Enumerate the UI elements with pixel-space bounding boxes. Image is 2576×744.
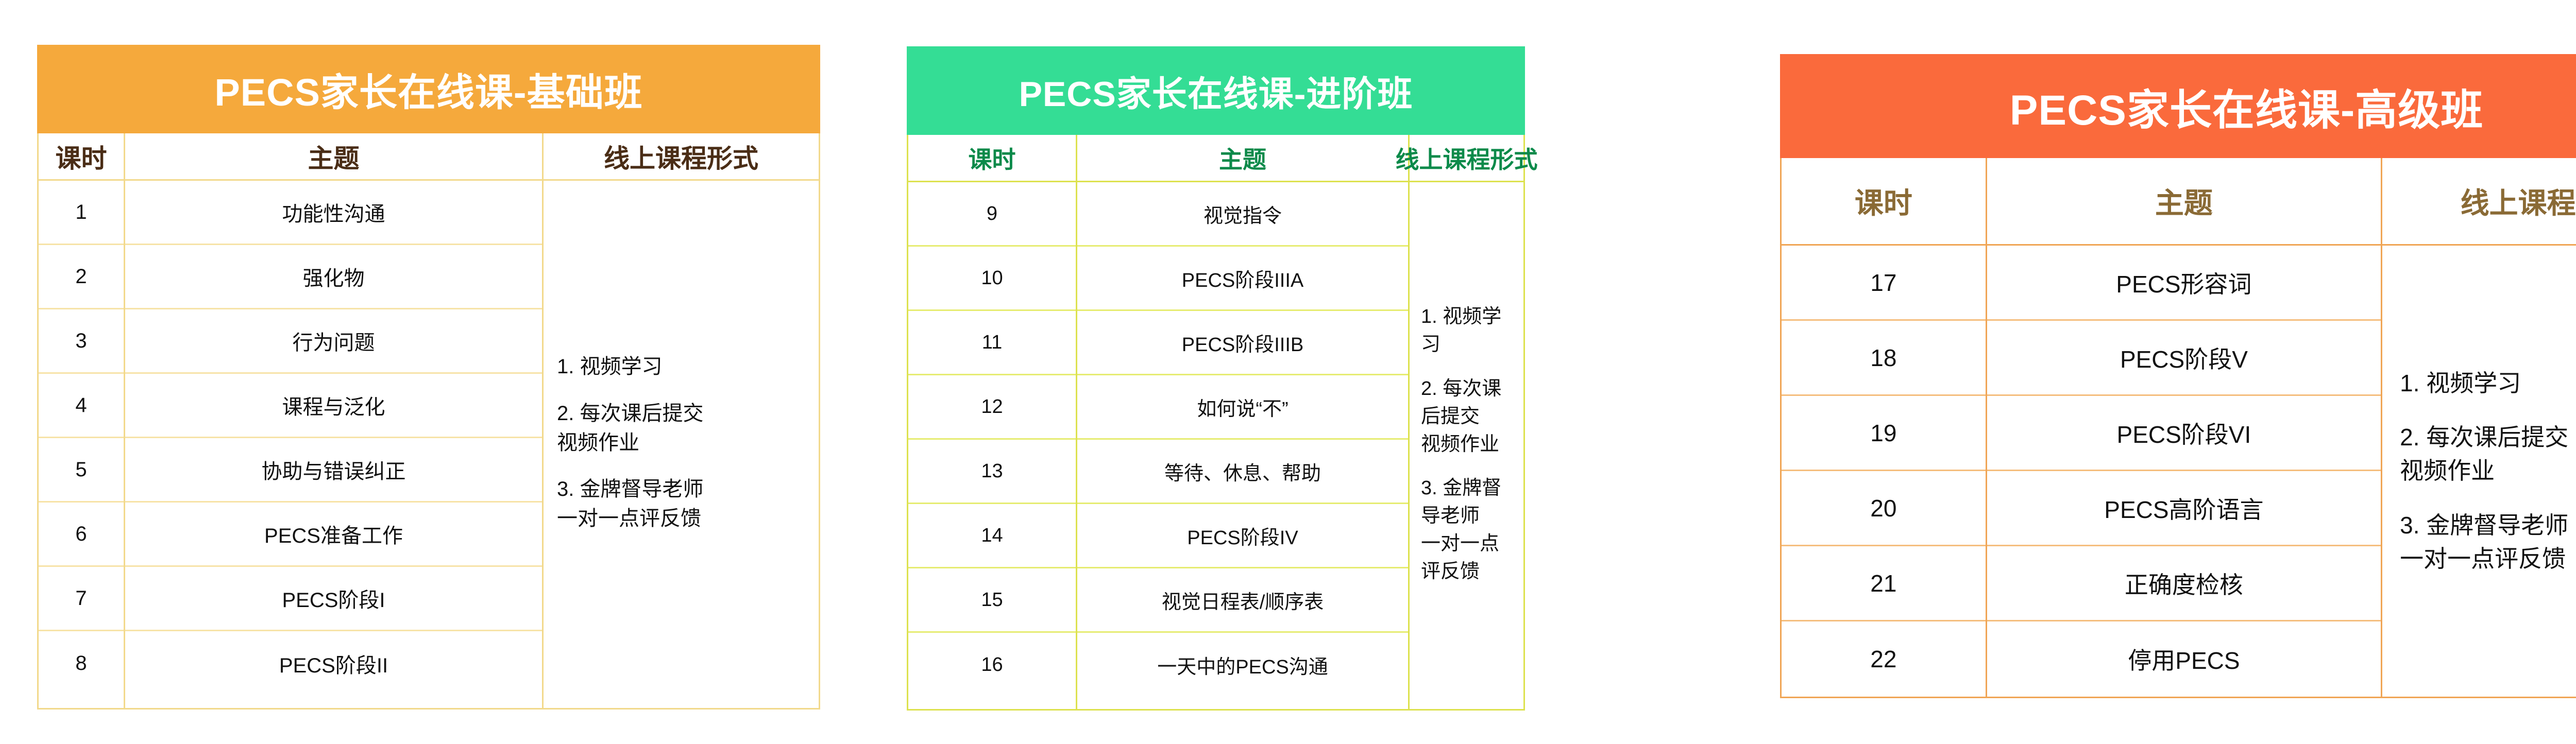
table-cell-topic: PECS阶段IIIB [1077, 311, 1408, 375]
table-cell-period: 6 [39, 503, 124, 567]
column-header-period: 课时 [1782, 158, 1986, 246]
table-grid-basic: 课时 1 2 3 4 5 6 7 8 主题 功能性沟通 强化物 行为问题 课程与… [37, 133, 820, 710]
table-cell-period: 2 [39, 245, 124, 309]
course-table-advanced: PECS家长在线课-高级班 课时 17 18 19 20 21 22 主题 PE… [1780, 54, 2576, 698]
column-header-format: 线上课程形式 [1410, 135, 1523, 182]
table-cell-format: 1. 视频学习 2. 每次课后提交 视频作业 3. 金牌督导老师 一对一点评反馈 [1410, 182, 1523, 709]
table-cell-topic: 视觉指令 [1077, 182, 1408, 247]
table-cell-topic: 协助与错误纠正 [125, 438, 542, 503]
table-cell-period: 17 [1782, 246, 1986, 321]
table-cell-topic: 一天中的PECS沟通 [1077, 633, 1408, 697]
table-banner-basic: PECS家长在线课-基础班 [37, 45, 820, 133]
table-cell-topic: 停用PECS [1987, 621, 2381, 697]
column-topic-advanced: 主题 PECS形容词 PECS阶段V PECS阶段VI PECS高阶语言 正确度… [1987, 158, 2382, 697]
table-cell-topic: PECS高阶语言 [1987, 471, 2381, 546]
format-line: 2. 每次课后提交 视频作业 [2400, 421, 2576, 488]
table-cell-period: 9 [908, 182, 1076, 247]
table-cell-period: 18 [1782, 321, 1986, 396]
table-cell-period: 5 [39, 438, 124, 503]
table-cell-period: 22 [1782, 621, 1986, 697]
format-line: 3. 金牌督导老师 一对一点评反馈 [557, 475, 803, 533]
format-line: 1. 视频学习 [2400, 367, 2576, 400]
table-cell-period: 20 [1782, 471, 1986, 546]
table-cell-topic: PECS阶段V [1987, 321, 2381, 396]
table-cell-period: 13 [908, 440, 1076, 504]
column-topic-basic: 主题 功能性沟通 强化物 行为问题 课程与泛化 协助与错误纠正 PECS准备工作… [125, 133, 544, 708]
table-cell-topic: PECS阶段II [125, 631, 542, 696]
table-cell-period: 15 [908, 568, 1076, 633]
column-format-intermediate: 线上课程形式 1. 视频学习 2. 每次课后提交 视频作业 3. 金牌督导老师 … [1410, 135, 1523, 709]
column-topic-intermediate: 主题 视觉指令 PECS阶段IIIA PECS阶段IIIB 如何说“不” 等待、… [1077, 135, 1410, 709]
table-cell-topic: 正确度检核 [1987, 546, 2381, 621]
table-cell-period: 11 [908, 311, 1076, 375]
table-cell-format: 1. 视频学习 2. 每次课后提交 视频作业 3. 金牌督导老师 一对一点评反馈 [2382, 246, 2576, 697]
table-cell-topic: 视觉日程表/顺序表 [1077, 568, 1408, 633]
table-banner-intermediate: PECS家长在线课-进阶班 [907, 46, 1525, 135]
column-header-topic: 主题 [1987, 158, 2381, 246]
course-table-intermediate: PECS家长在线课-进阶班 课时 9 10 11 12 13 14 15 16 … [907, 46, 1525, 711]
table-cell-period: 21 [1782, 546, 1986, 621]
table-cell-topic: PECS阶段IV [1077, 504, 1408, 568]
table-cell-period: 8 [39, 631, 124, 696]
table-cell-topic: 课程与泛化 [125, 374, 542, 438]
column-format-advanced: 线上课程形式 1. 视频学习 2. 每次课后提交 视频作业 3. 金牌督导老师 … [2382, 158, 2576, 697]
column-period-basic: 课时 1 2 3 4 5 6 7 8 [39, 133, 125, 708]
table-cell-topic: 行为问题 [125, 309, 542, 374]
format-line: 1. 视频学习 [557, 352, 803, 382]
table-cell-period: 19 [1782, 396, 1986, 471]
table-cell-period: 14 [908, 504, 1076, 568]
table-grid-intermediate: 课时 9 10 11 12 13 14 15 16 主题 视觉指令 PECS阶段… [907, 135, 1525, 711]
table-cell-period: 3 [39, 309, 124, 374]
format-line: 2. 每次课后提交 视频作业 [557, 399, 803, 458]
column-period-intermediate: 课时 9 10 11 12 13 14 15 16 [908, 135, 1077, 709]
column-header-topic: 主题 [1077, 135, 1408, 182]
table-cell-topic: 功能性沟通 [125, 181, 542, 245]
format-line: 3. 金牌督导老师 一对一点评反馈 [2400, 509, 2576, 576]
table-cell-period: 1 [39, 181, 124, 245]
table-cell-topic: PECS形容词 [1987, 246, 2381, 321]
table-cell-topic: PECS准备工作 [125, 503, 542, 567]
table-grid-advanced: 课时 17 18 19 20 21 22 主题 PECS形容词 PECS阶段V … [1780, 158, 2576, 698]
column-period-advanced: 课时 17 18 19 20 21 22 [1782, 158, 1987, 697]
table-cell-period: 10 [908, 247, 1076, 311]
column-header-format: 线上课程形式 [544, 133, 819, 181]
table-cell-period: 7 [39, 567, 124, 631]
table-cell-period: 12 [908, 375, 1076, 440]
table-cell-format: 1. 视频学习 2. 每次课后提交 视频作业 3. 金牌督导老师 一对一点评反馈 [544, 181, 819, 708]
format-line: 1. 视频学习 [1421, 303, 1518, 359]
column-header-format: 线上课程形式 [2382, 158, 2576, 246]
format-line: 2. 每次课后提交 视频作业 [1421, 375, 1518, 459]
column-format-basic: 线上课程形式 1. 视频学习 2. 每次课后提交 视频作业 3. 金牌督导老师 … [544, 133, 819, 708]
format-line: 3. 金牌督导老师 一对一点评反馈 [1421, 475, 1518, 586]
table-cell-topic: 等待、休息、帮助 [1077, 440, 1408, 504]
table-cell-topic: PECS阶段IIIA [1077, 247, 1408, 311]
table-cell-topic: 如何说“不” [1077, 375, 1408, 440]
table-cell-topic: PECS阶段I [125, 567, 542, 631]
table-cell-topic: PECS阶段VI [1987, 396, 2381, 471]
table-cell-period: 16 [908, 633, 1076, 697]
table-banner-advanced: PECS家长在线课-高级班 [1780, 54, 2576, 158]
table-cell-period: 4 [39, 374, 124, 438]
column-header-period: 课时 [908, 135, 1076, 182]
column-header-topic: 主题 [125, 133, 542, 181]
table-cell-topic: 强化物 [125, 245, 542, 309]
course-table-basic: PECS家长在线课-基础班 课时 1 2 3 4 5 6 7 8 主题 功能性沟… [37, 45, 820, 710]
column-header-period: 课时 [39, 133, 124, 181]
